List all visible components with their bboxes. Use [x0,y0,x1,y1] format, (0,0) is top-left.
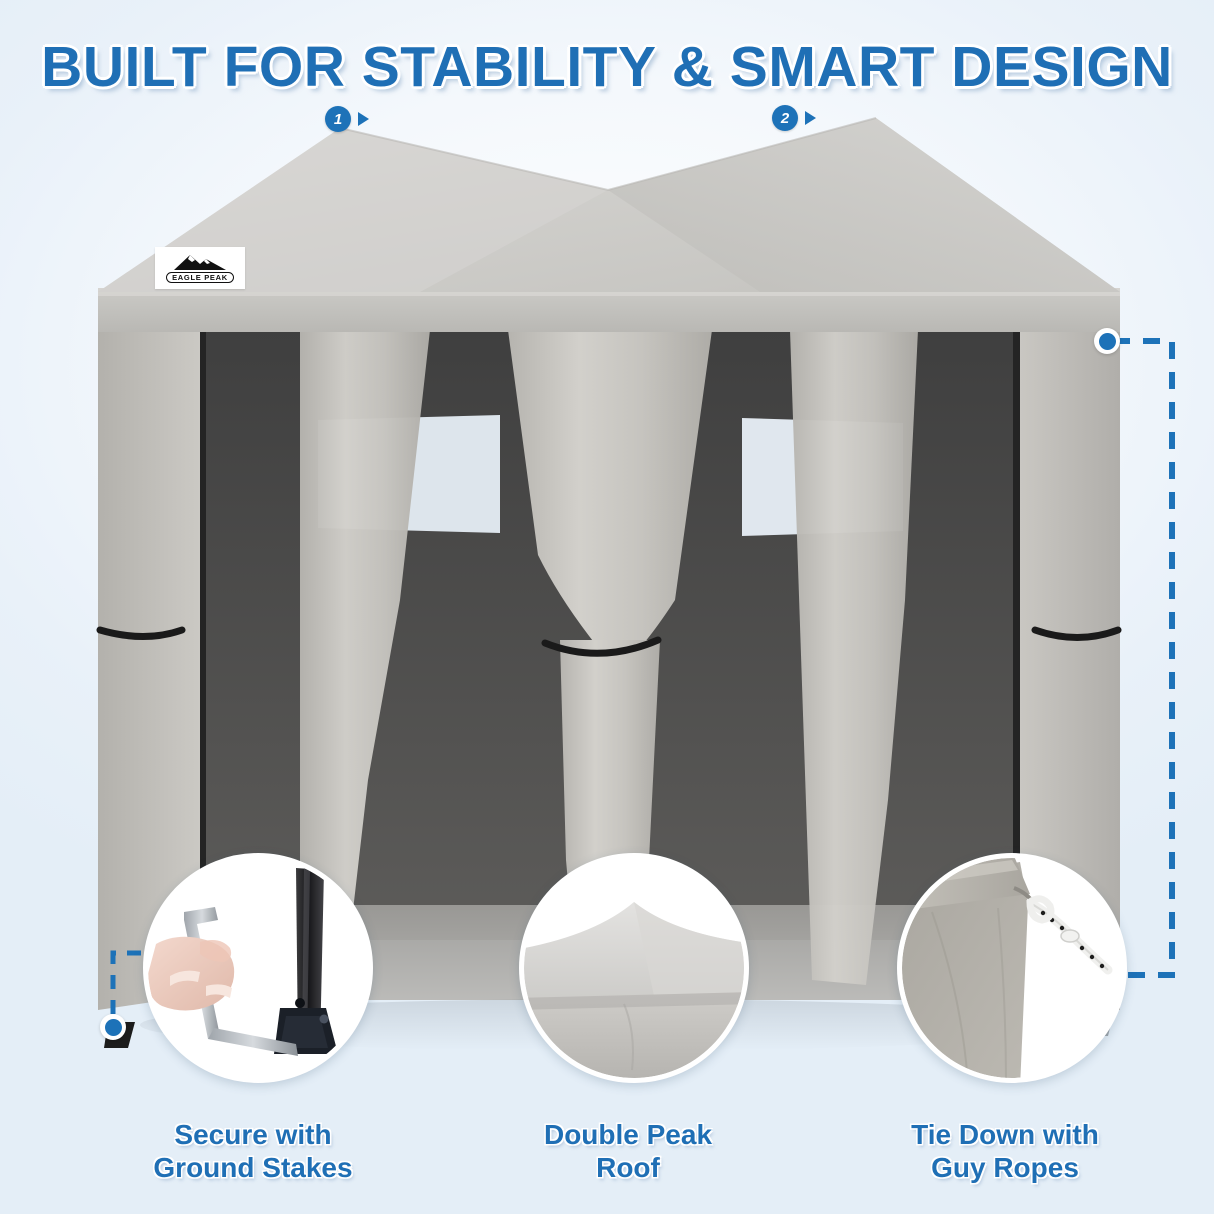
double-peak-roof-illustration [524,858,744,1078]
callout-dot-right [1094,328,1120,354]
guy-rope-illustration [902,858,1122,1078]
feature-caption-1-line2: Ground Stakes [88,1151,418,1184]
feature-caption-2-line2: Roof [463,1151,793,1184]
brand-logo-text: EAGLE PEAK [166,272,234,283]
step-marker-1: 1 [325,106,369,132]
feature-detail-guy-rope [897,853,1127,1083]
callout-dot-left [100,1014,126,1040]
step-marker-2: 2 [772,105,816,131]
mountain-icon [170,253,230,271]
feature-caption-1: Secure with Ground Stakes [88,1118,418,1184]
feature-caption-3: Tie Down with Guy Ropes [840,1118,1170,1184]
ground-stake-illustration [148,858,368,1078]
feature-caption-3-line2: Guy Ropes [840,1151,1170,1184]
step-marker-1-arrow-icon [358,112,369,126]
feature-detail-double-peak-roof [519,853,749,1083]
step-marker-1-number: 1 [325,106,351,132]
step-marker-2-arrow-icon [805,111,816,125]
feature-caption-3-line1: Tie Down with [840,1118,1170,1151]
feature-detail-ground-stake [143,853,373,1083]
feature-caption-2: Double Peak Roof [463,1118,793,1184]
page-title: BUILT FOR STABILITY & SMART DESIGN [0,34,1214,100]
brand-logo-badge: EAGLE PEAK [155,247,245,289]
step-marker-2-number: 2 [772,105,798,131]
infographic-canvas: EAGLE PEAK BUILT FOR STABILITY & SMART D… [0,0,1214,1214]
feature-caption-2-line1: Double Peak [463,1118,793,1151]
feature-caption-1-line1: Secure with [88,1118,418,1151]
